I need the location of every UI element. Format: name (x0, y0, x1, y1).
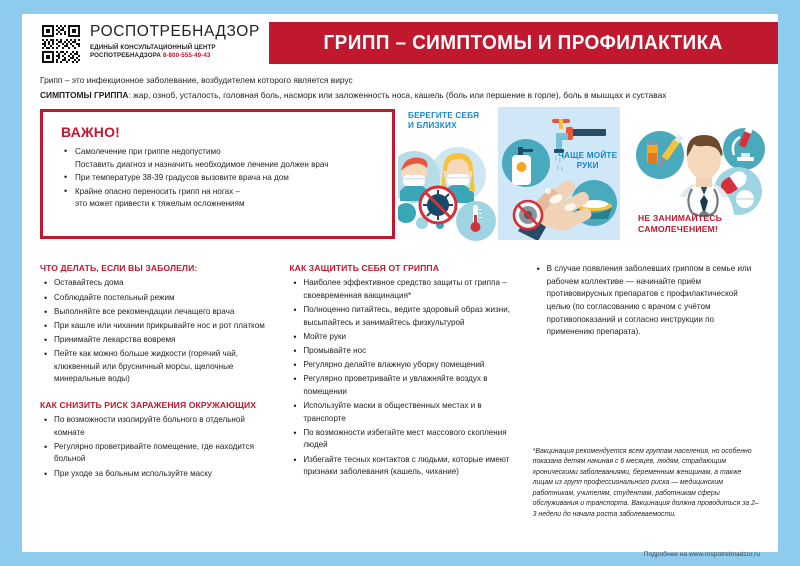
important-item-line1: Самолечение при гриппе недопустимо (75, 146, 380, 159)
important-item-line1: При температуре 38-39 градусов вызовите … (75, 172, 380, 185)
section-title-what-to-do: ЧТО ДЕЛАТЬ, ЕСЛИ ВЫ ЗАБОЛЕЛИ: (40, 263, 273, 274)
poster-header: РОСПОТРЕБНАДЗОР ЕДИНЫЙ КОНСУЛЬТАЦИОННЫЙ … (22, 14, 778, 68)
list-item: Полноценно питайтесь, ведите здоровый об… (303, 304, 516, 329)
intro-block: Грипп – это инфекционное заболевание, во… (22, 68, 778, 101)
list-item: При кашле или чихании прикрывайте нос и … (54, 320, 273, 333)
microscope-icon (723, 127, 765, 170)
important-box: ВАЖНО! Самолечение при гриппе недопустим… (40, 109, 395, 239)
qr-code-icon (40, 23, 82, 65)
symptoms-text: : жар, озноб, усталость, головная боль, … (128, 90, 666, 100)
important-list: Самолечение при гриппе недопустимо Поста… (43, 146, 392, 211)
list-item: При уходе за больным используйте маску (54, 468, 273, 481)
brand-title: РОСПОТРЕБНАДЗОР (90, 24, 260, 40)
brand-subtitle: ЕДИНЫЙ КОНСУЛЬТАЦИОННЫЙ ЦЕНТР РОСПОТРЕБН… (90, 44, 260, 61)
list-how-to-protect: Наиболее эффективное средство защиты от … (289, 277, 516, 478)
caption-nosm-line1: НЕ ЗАНИМАЙТЕСЬ (638, 213, 722, 224)
illustration-group: БЕРЕГИТЕ СЕБЯ И БЛИЗКИХ (402, 101, 780, 253)
brand-subtitle-line2: РОСПОТРЕБНАДЗОРА 8-800-555-49-43 (90, 52, 260, 60)
important-title: ВАЖНО! (61, 124, 392, 140)
important-item-line2: Поставить диагноз и назначить необходимо… (75, 159, 380, 172)
brand-block: РОСПОТРЕБНАДЗОР ЕДИНЫЙ КОНСУЛЬТАЦИОННЫЙ … (40, 23, 260, 65)
brand-subtitle-line2-text: РОСПОТРЕБНАДЗОРА (90, 52, 161, 59)
washing-hands-illustration (498, 107, 620, 240)
section-title-reduce-risk: КАК СНИЗИТЬ РИСК ЗАРАЖЕНИЯ ОКРУЖАЮЩИХ (40, 400, 273, 411)
vaccination-footnote: *Вакцинация рекомендуется всем группам н… (533, 447, 760, 520)
vaccine-vial-syringe-icon (636, 131, 684, 179)
poster-page: РОСПОТРЕБНАДЗОР ЕДИНЫЙ КОНСУЛЬТАЦИОННЫЙ … (22, 14, 778, 552)
brand-subtitle-line1: ЕДИНЫЙ КОНСУЛЬТАЦИОННЫЙ ЦЕНТР (90, 44, 260, 52)
list-item: Промывайте нос (303, 345, 516, 358)
content-columns: ЧТО ДЕЛАТЬ, ЕСЛИ ВЫ ЗАБОЛЕЛИ: Оставайтес… (22, 263, 778, 520)
brand-text: РОСПОТРЕБНАДЗОР ЕДИНЫЙ КОНСУЛЬТАЦИОННЫЙ … (90, 23, 260, 60)
column-prophylaxis: В случае появления заболевших гриппом в … (533, 263, 760, 520)
section-title-how-to-protect: КАК ЗАЩИТИТЬ СЕБЯ ОТ ГРИППА (289, 263, 516, 274)
content-columns-wrap: ЧТО ДЕЛАТЬ, ЕСЛИ ВЫ ЗАБОЛЕЛИ: Оставайтес… (22, 263, 778, 520)
list-item: Пейте как можно больше жидкости (горячий… (54, 348, 273, 386)
important-item: Крайне опасно переносить грипп на ногах … (75, 186, 380, 211)
list-item: Соблюдайте постельный режим (54, 292, 273, 305)
protect-yourself-illustration (398, 135, 502, 245)
caption-protect-line2: И БЛИЗКИХ (408, 121, 479, 131)
list-item: Оставайтесь дома (54, 277, 273, 290)
hotline-phone[interactable]: 8-800-555-49-43 (163, 52, 211, 59)
caption-nosm-line2: САМОЛЕЧЕНИЕМ! (638, 224, 722, 235)
list-item: По возможности изолируйте больного в отд… (54, 414, 273, 439)
list-item: Мойте руки (303, 331, 516, 344)
more-info-link[interactable]: Подробнее на www.rospotrebnadzor.ru (644, 551, 760, 558)
list-item: Избегайте тесных контактов с людьми, кот… (303, 454, 516, 479)
wash-hands-panel: ЧАЩЕ МОЙТЕ РУКИ (498, 107, 620, 240)
list-item: По возможности избегайте мест массового … (303, 427, 516, 452)
caption-protect-yourself: БЕРЕГИТЕ СЕБЯ И БЛИЗКИХ (408, 111, 479, 131)
doctor-illustration (634, 111, 774, 217)
caption-protect-line1: БЕРЕГИТЕ СЕБЯ (408, 111, 479, 121)
list-item: В случае появления заболевших гриппом в … (547, 263, 760, 339)
important-item-line2: это может привести к тяжелым осложнениям (75, 198, 380, 211)
list-prophylaxis: В случае появления заболевших гриппом в … (533, 263, 760, 339)
list-item: Выполняйте все рекомендации лечащего вра… (54, 306, 273, 319)
important-item-line1: Крайне опасно переносить грипп на ногах … (75, 186, 380, 199)
list-item: Регулярно проветривайте и увлажняйте воз… (303, 373, 516, 398)
thermometer-icon (456, 201, 496, 241)
column-what-to-do: ЧТО ДЕЛАТЬ, ЕСЛИ ВЫ ЗАБОЛЕЛИ: Оставайтес… (40, 263, 289, 520)
caption-wash-hands: ЧАЩЕ МОЙТЕ РУКИ (558, 151, 617, 171)
list-item: Используйте маски в общественных местах … (303, 400, 516, 425)
column-how-to-protect: КАК ЗАЩИТИТЬ СЕБЯ ОТ ГРИППА Наиболее эфф… (289, 263, 532, 520)
list-reduce-risk: По возможности изолируйте больного в отд… (40, 414, 273, 480)
list-item: Регулярно делайте влажную уборку помещен… (303, 359, 516, 372)
list-item: Наиболее эффективное средство защиты от … (303, 277, 516, 302)
caption-no-self-medication: НЕ ЗАНИМАЙТЕСЬ САМОЛЕЧЕНИЕМ! (638, 213, 722, 235)
virus-forbidden-icon (419, 186, 457, 224)
germ-forbidden-icon (513, 200, 543, 230)
caption-wash-line2: РУКИ (558, 161, 617, 171)
important-item: При температуре 38-39 градусов вызовите … (75, 172, 380, 185)
caption-wash-line1: ЧАЩЕ МОЙТЕ (558, 151, 617, 161)
intro-line-1: Грипп – это инфекционное заболевание, во… (40, 74, 760, 87)
header-title-bar: ГРИПП – СИМПТОМЫ И ПРОФИЛАКТИКА (269, 22, 778, 64)
page-title: ГРИПП – СИМПТОМЫ И ПРОФИЛАКТИКА (324, 32, 723, 55)
list-item: Регулярно проветривайте помещение, где н… (54, 441, 273, 466)
intro-line-2: СИМПТОМЫ ГРИППА: жар, озноб, усталость, … (40, 89, 760, 102)
middle-band: ВАЖНО! Самолечение при гриппе недопустим… (22, 109, 778, 259)
list-what-to-do: Оставайтесь дома Соблюдайте постельный р… (40, 277, 273, 386)
symptoms-label: СИМПТОМЫ ГРИППА (40, 90, 128, 100)
list-item: Принимайте лекарства вовремя (54, 334, 273, 347)
important-item: Самолечение при гриппе недопустимо Поста… (75, 146, 380, 171)
